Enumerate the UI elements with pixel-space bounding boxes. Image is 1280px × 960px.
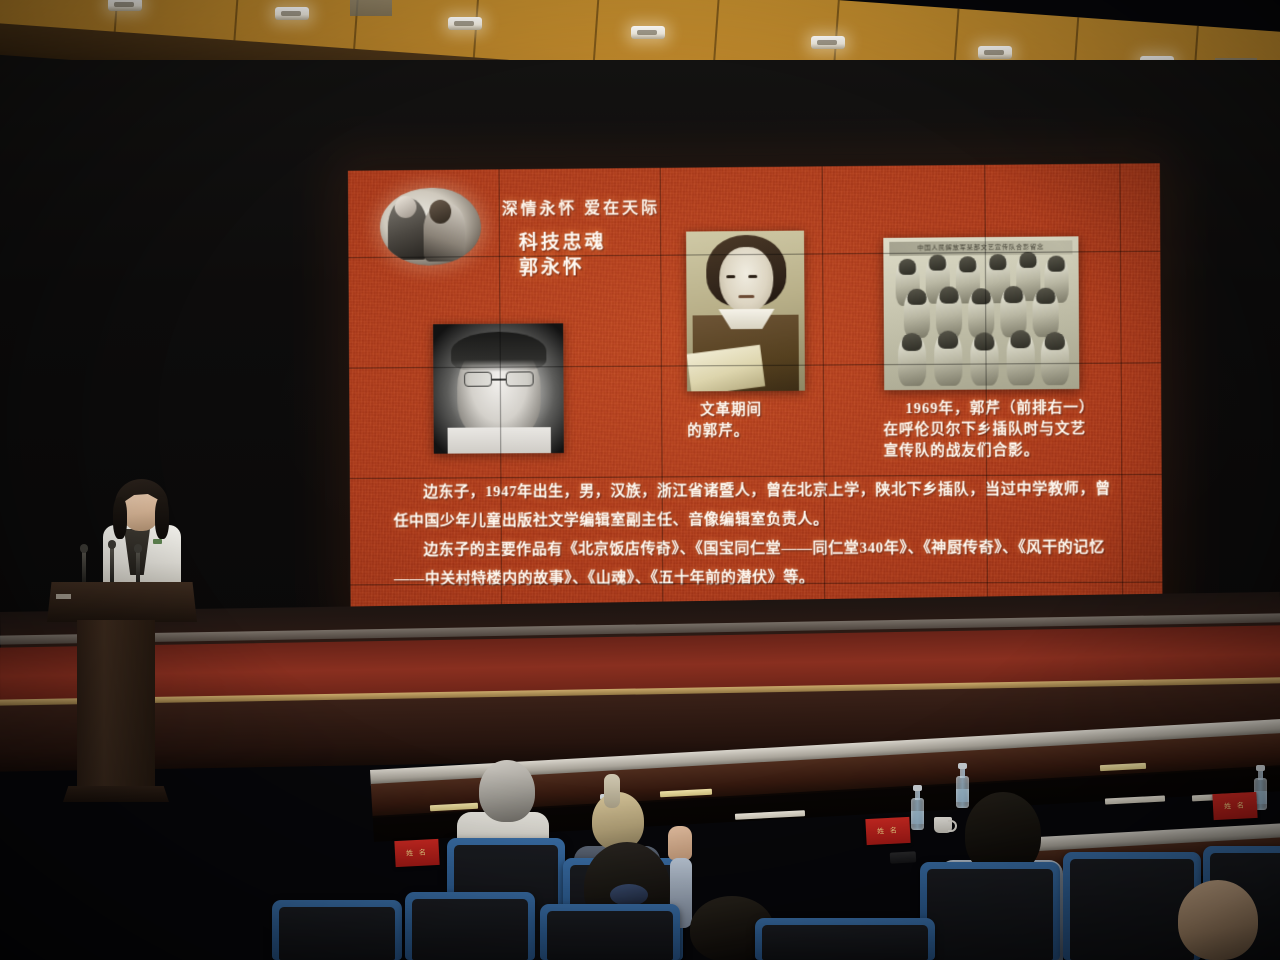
caption-group-line-1: 1969年，郭芹（前排右一） (883, 398, 1094, 420)
couple-portrait-emblem-icon (380, 187, 482, 266)
microphone (136, 550, 140, 584)
ceiling-air-vent (350, 0, 392, 16)
group-photo-1969: 中国人民解放军某部文艺宣传队合影留念 (883, 236, 1079, 390)
audience-chair[interactable] (272, 900, 402, 960)
slide-paragraph-2: 边东子的主要作品有《北京饭店传奇》、《国宝同仁堂——同仁堂340年》、《神厨传奇… (394, 533, 1122, 594)
caption-group-line-2: 在呼伦贝尔下乡插队时与文艺 (883, 419, 1094, 441)
microphone (110, 546, 114, 584)
slide-title-line-1: 科技忠魂 (519, 230, 607, 256)
caption-guo-qin-line-2: 的郭芹。 (674, 421, 762, 442)
caption-group-line-3: 宣传队的战友们合影。 (884, 440, 1095, 462)
name-tent-label: 姓 名 (1212, 792, 1257, 820)
coffee-cup (934, 817, 952, 833)
name-tent-card: 姓 名 (1212, 792, 1257, 820)
mobile-phone (890, 851, 917, 863)
ceiling-spotlight (448, 17, 482, 30)
speaker-podium[interactable] (47, 582, 197, 814)
slide-title-line-2: 郭永怀 (519, 255, 607, 281)
podium-nameplate (56, 594, 71, 599)
portrait-bian-dongzi-photo (433, 323, 564, 453)
audience-desk-row-front (1020, 821, 1280, 838)
ceiling-spotlight (811, 36, 845, 49)
caption-group-photo: 1969年，郭芹（前排右一） 在呼伦贝尔下乡插队时与文艺 宣传队的战友们合影。 (883, 398, 1095, 462)
raised-hand (668, 826, 692, 860)
caption-guo-qin-line-1: 文革期间 (674, 400, 762, 422)
name-tent-card: 姓 名 (865, 817, 910, 845)
ceiling-spotlight (978, 46, 1012, 59)
microphone (82, 550, 86, 584)
ceiling-spotlight (108, 0, 142, 11)
water-bottle (911, 786, 924, 830)
audience-chair[interactable] (405, 892, 535, 960)
auditorium-scene: 深情永怀 爱在天际 科技忠魂 郭永怀 中国人民解放军某部文艺宣传队合影留念 (0, 0, 1280, 960)
name-tent-card: 姓 名 (394, 839, 439, 867)
name-tent-label: 姓 名 (865, 817, 910, 845)
slide-header-subtitle: 深情永怀 爱在天际 (502, 194, 660, 219)
audience-chair[interactable] (540, 904, 680, 960)
name-tent-label: 姓 名 (394, 839, 439, 867)
led-video-wall[interactable]: 深情永怀 爱在天际 科技忠魂 郭永怀 中国人民解放军某部文艺宣传队合影留念 (348, 163, 1163, 620)
hair-bow (610, 884, 648, 906)
water-bottle (956, 764, 969, 808)
slide-body-text: 边东子，1947年出生，男，汉族，浙江省诸暨人，曾在北京上学，陕北下乡插队，当过… (393, 475, 1122, 594)
audience-chair[interactable] (920, 862, 1060, 960)
caption-guo-qin: 文革期间 的郭芹。 (674, 400, 762, 442)
ceiling-spotlight (275, 7, 309, 20)
ceiling-spotlight (631, 26, 665, 39)
audience-chair[interactable] (755, 918, 935, 960)
slide-paragraph-1: 边东子，1947年出生，男，汉族，浙江省诸暨人，曾在北京上学，陕北下乡插队，当过… (393, 475, 1121, 536)
